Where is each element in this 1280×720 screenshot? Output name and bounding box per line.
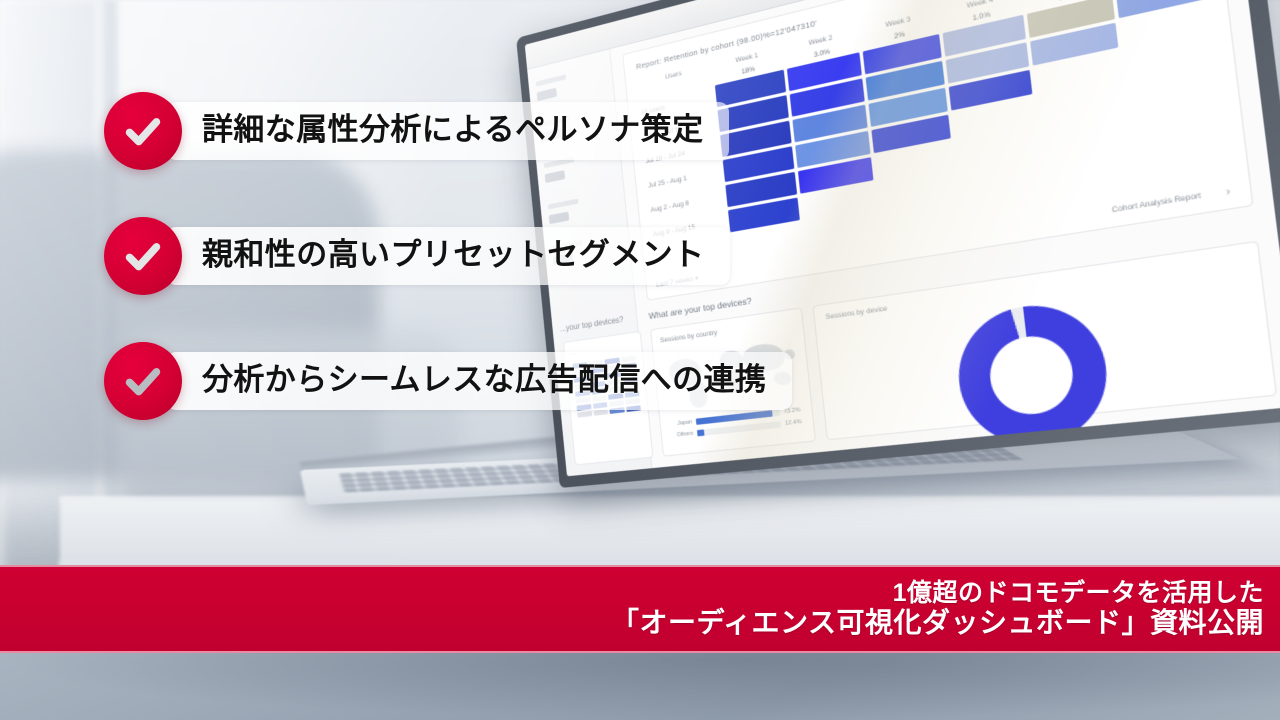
bottom-banner: 1億超のドコモデータを活用した 「オーディエンス可視化ダッシュボード」資料公開 [0, 565, 1280, 653]
check-glyph [120, 358, 166, 404]
bullet-item: 分析からシームレスな広告配信への連携 [104, 342, 792, 420]
check-icon [104, 217, 182, 295]
bottom-strip [0, 653, 1280, 720]
check-glyph [120, 108, 166, 154]
bullet-text: 親和性の高いプリセットセグメント [202, 237, 704, 272]
check-icon [104, 342, 182, 420]
banner-line-2: 「オーディエンス可視化ダッシュボード」資料公開 [611, 607, 1264, 638]
bullet-pill: 詳細な属性分析によるペルソナ策定 [166, 102, 729, 160]
bullet-pill: 親和性の高いプリセットセグメント [166, 227, 730, 285]
bullet-list: 詳細な属性分析によるペルソナ策定 親和性の高いプリセットセグメント 分析からシー… [0, 0, 1280, 560]
bullet-item: 親和性の高いプリセットセグメント [104, 217, 730, 295]
banner-line-1: 1億超のドコモデータを活用した [893, 579, 1264, 607]
bullet-pill: 分析からシームレスな広告配信への連携 [166, 352, 792, 410]
bullet-text: 詳細な属性分析によるペルソナ策定 [202, 112, 703, 147]
check-glyph [120, 233, 166, 279]
check-icon [104, 92, 182, 170]
promo-banner-image: Report: Retention by cohort (98.00)%=12'… [0, 0, 1280, 720]
bullet-text: 分析からシームレスな広告配信への連携 [202, 362, 766, 397]
bullet-item: 詳細な属性分析によるペルソナ策定 [104, 92, 729, 170]
